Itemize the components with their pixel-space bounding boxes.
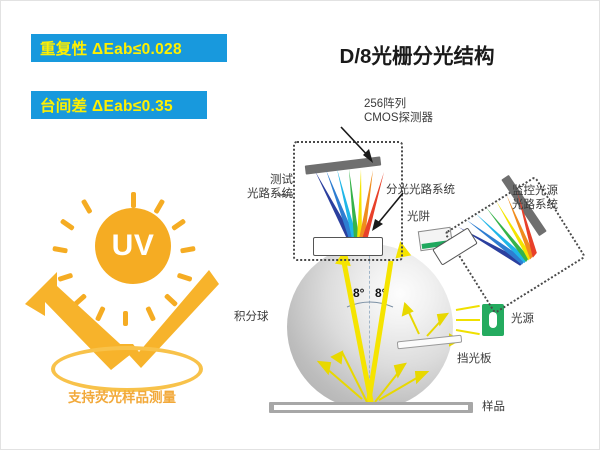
label-detector: 256阵列 CMOS探测器 [364, 97, 433, 125]
monitor-spectrum-rays-icon [463, 213, 559, 287]
sample-surface [274, 405, 468, 410]
spec-badge-inter-instrument: 台间差 ΔEab≤0.35 [31, 91, 207, 119]
scattered-light-arrows-icon [287, 244, 467, 419]
detector-pointer-arrow-icon [339, 125, 385, 169]
label-test-optics: 测试 光路系统 [233, 173, 293, 201]
sun-ray-icon [153, 199, 165, 214]
light-source-lamp-icon [489, 312, 497, 328]
page-title: D/8光栅分光结构 [297, 39, 537, 69]
uv-fluorescence-feature: UV 支持荧光样品测量 [23, 196, 221, 411]
sun-ray-icon [131, 192, 136, 208]
sun-ray-icon [81, 199, 93, 214]
diagram-canvas: 重复性 ΔEab≤0.028 台间差 ΔEab≤0.35 D/8光栅分光结构 8… [0, 0, 600, 450]
label-light-source: 光源 [511, 312, 534, 326]
label-baffle: 挡光板 [457, 352, 492, 366]
spec-badge-repeatability: 重复性 ΔEab≤0.028 [31, 34, 227, 62]
uv-sun-label: UV [112, 229, 155, 263]
sun-ray-icon [171, 218, 186, 231]
label-integrating-sphere: 积分球 [234, 310, 269, 324]
source-ray-2 [456, 319, 480, 321]
sample-holder [269, 402, 473, 413]
label-monitor-optics: 监控光源 光路系统 [512, 184, 558, 212]
sun-ray-icon [60, 218, 75, 231]
label-sample: 样品 [482, 400, 505, 414]
uv-sun-icon: UV [95, 208, 171, 284]
uv-feature-caption: 支持荧光样品测量 [23, 386, 221, 406]
label-spectro-optics: 分光光路系统 [386, 183, 455, 197]
label-light-trap: 光阱 [407, 210, 430, 224]
